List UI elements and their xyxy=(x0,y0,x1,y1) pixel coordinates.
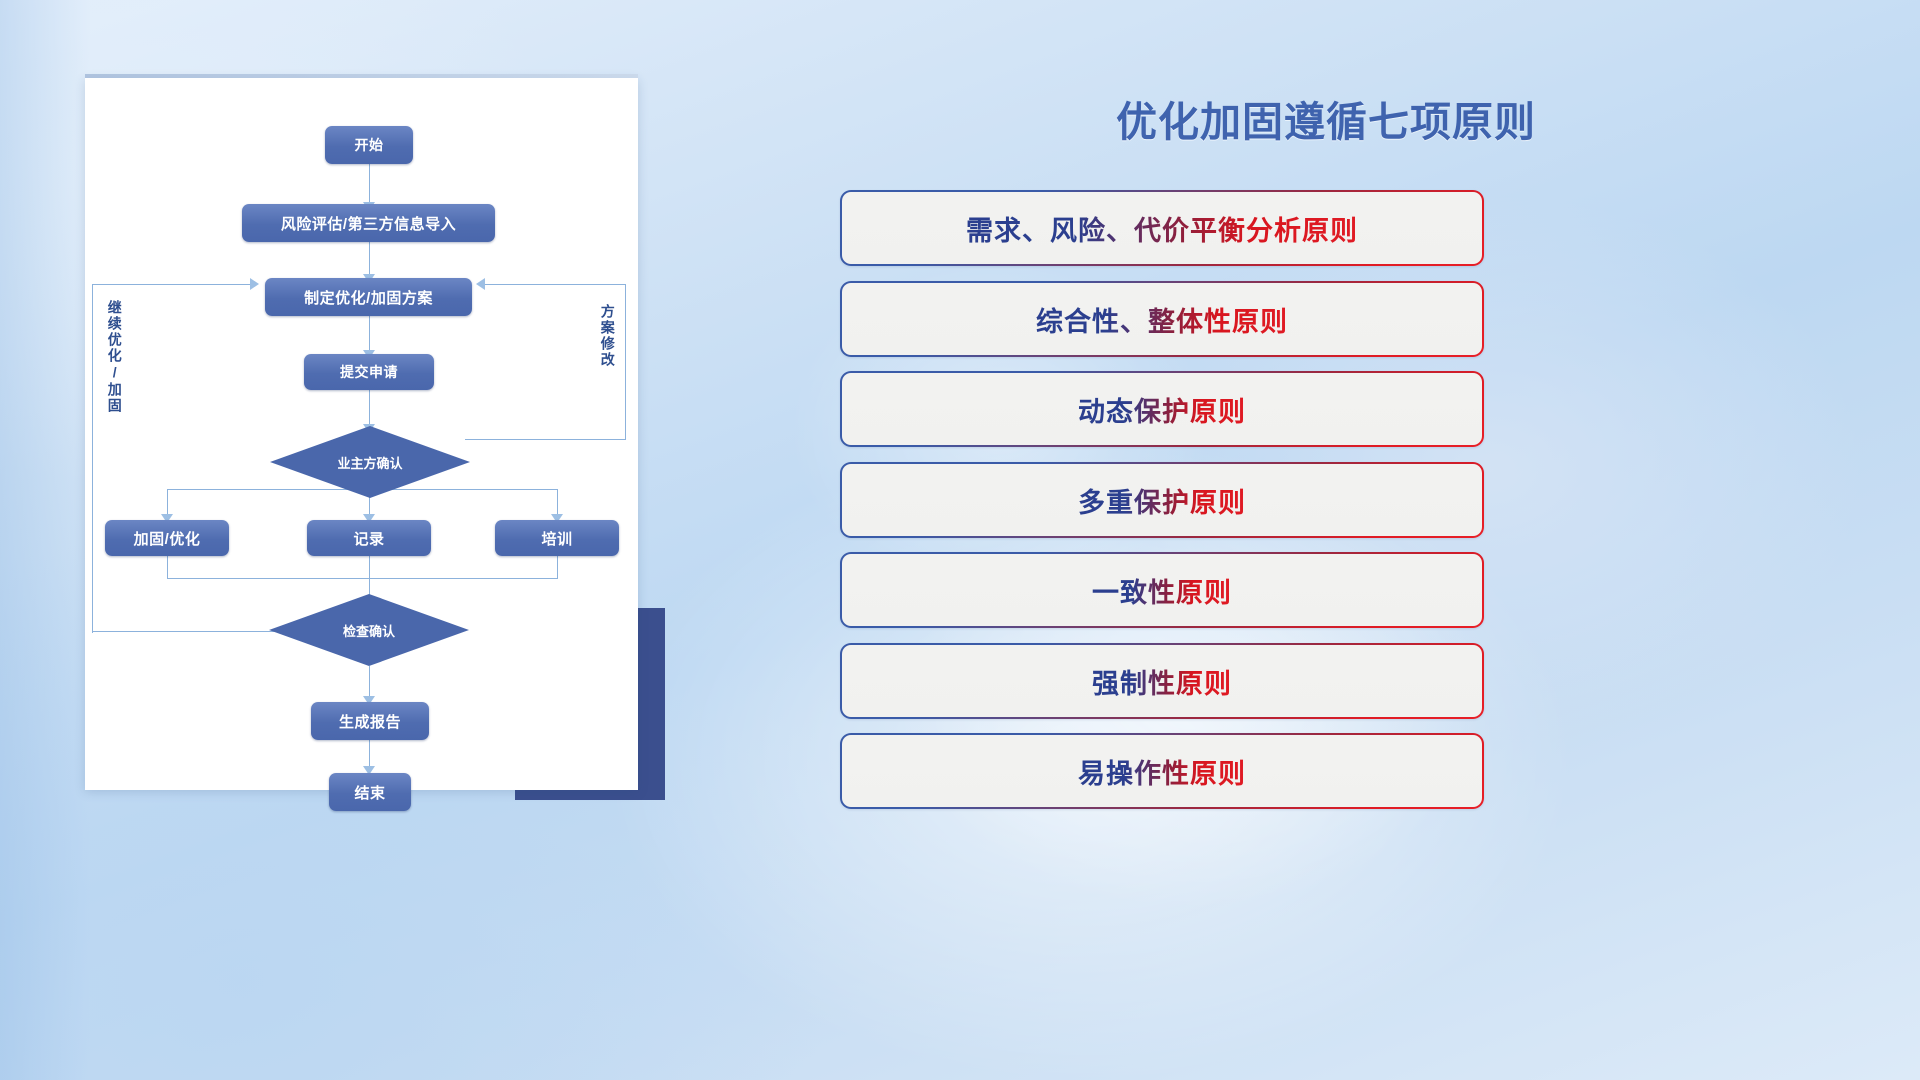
flow-node-record[interactable]: 记录 xyxy=(307,520,431,556)
flow-node-plan-label: 制定优化/加固方案 xyxy=(304,287,433,308)
principle-item-3-label: 动态保护原则 xyxy=(1078,390,1246,429)
connector-start-risk xyxy=(369,164,370,206)
principle-item-3[interactable]: 动态保护原则 xyxy=(840,371,1484,447)
principle-item-6-label: 强制性原则 xyxy=(1092,662,1232,701)
principle-item-2-label: 综合性、整体性原则 xyxy=(1036,300,1288,339)
principles-panel: 优化加固遵循七项原则 需求、风险、代价平衡分析原则 综合性、整体性原则 动态保护… xyxy=(836,0,1856,1080)
flow-node-owner-confirm-label: 业主方确认 xyxy=(337,453,402,472)
connector-merge-left xyxy=(167,556,168,579)
connector-loop-right-top xyxy=(485,284,626,285)
flow-node-owner-confirm[interactable]: 业主方确认 xyxy=(270,426,470,498)
principle-item-2[interactable]: 综合性、整体性原则 xyxy=(840,281,1484,357)
connector-loop-right-vertical xyxy=(625,284,626,440)
principle-item-1[interactable]: 需求、风险、代价平衡分析原则 xyxy=(840,190,1484,266)
flowchart-card: 继续优化/加固 方案修改 开始 风险评估/第三方信息导入 制 xyxy=(85,78,638,790)
arrow-loop-left-to-plan xyxy=(250,278,259,290)
flow-node-report[interactable]: 生成报告 xyxy=(311,702,429,740)
flow-node-report-label: 生成报告 xyxy=(339,711,401,732)
flow-node-end-label: 结束 xyxy=(354,782,385,803)
principle-item-4-label: 多重保护原则 xyxy=(1078,481,1246,520)
flow-node-plan[interactable]: 制定优化/加固方案 xyxy=(265,278,472,316)
connector-loop-left-top xyxy=(92,284,252,285)
flow-node-reinforce-label: 加固/优化 xyxy=(134,528,201,549)
flow-node-check-confirm[interactable]: 检查确认 xyxy=(269,594,469,666)
connector-loop-right-bottom xyxy=(465,439,626,440)
principle-item-5[interactable]: 一致性原则 xyxy=(840,552,1484,628)
flow-node-submit[interactable]: 提交申请 xyxy=(304,354,434,390)
principle-item-5-label: 一致性原则 xyxy=(1092,571,1232,610)
arrow-loop-right-to-plan xyxy=(476,278,485,290)
flow-node-start[interactable]: 开始 xyxy=(325,126,413,164)
connector-merge-bus xyxy=(167,578,558,579)
connector-loop-left-vertical xyxy=(92,284,93,633)
principle-item-4[interactable]: 多重保护原则 xyxy=(840,462,1484,538)
principle-item-7[interactable]: 易操作性原则 xyxy=(840,733,1484,809)
card-top-highlight xyxy=(85,74,638,78)
page-title: 优化加固遵循七项原则 xyxy=(946,88,1706,148)
flow-label-right: 方案修改 xyxy=(600,304,615,414)
flow-node-training-label: 培训 xyxy=(541,528,572,549)
flow-node-end[interactable]: 结束 xyxy=(329,773,411,811)
flow-node-reinforce[interactable]: 加固/优化 xyxy=(105,520,229,556)
flow-node-training[interactable]: 培训 xyxy=(495,520,619,556)
flow-node-risk-assessment[interactable]: 风险评估/第三方信息导入 xyxy=(242,204,495,242)
flow-node-check-confirm-label: 检查确认 xyxy=(343,621,395,640)
flow-node-submit-label: 提交申请 xyxy=(340,362,398,382)
flow-node-record-label: 记录 xyxy=(353,528,384,549)
flow-node-risk-assessment-label: 风险评估/第三方信息导入 xyxy=(281,213,456,234)
principle-item-7-label: 易操作性原则 xyxy=(1078,752,1246,791)
principle-item-1-label: 需求、风险、代价平衡分析原则 xyxy=(966,209,1358,248)
flow-node-start-label: 开始 xyxy=(355,135,384,155)
connector-merge-right xyxy=(557,556,558,579)
principle-item-6[interactable]: 强制性原则 xyxy=(840,643,1484,719)
flow-label-left: 继续优化/加固 xyxy=(107,300,122,450)
